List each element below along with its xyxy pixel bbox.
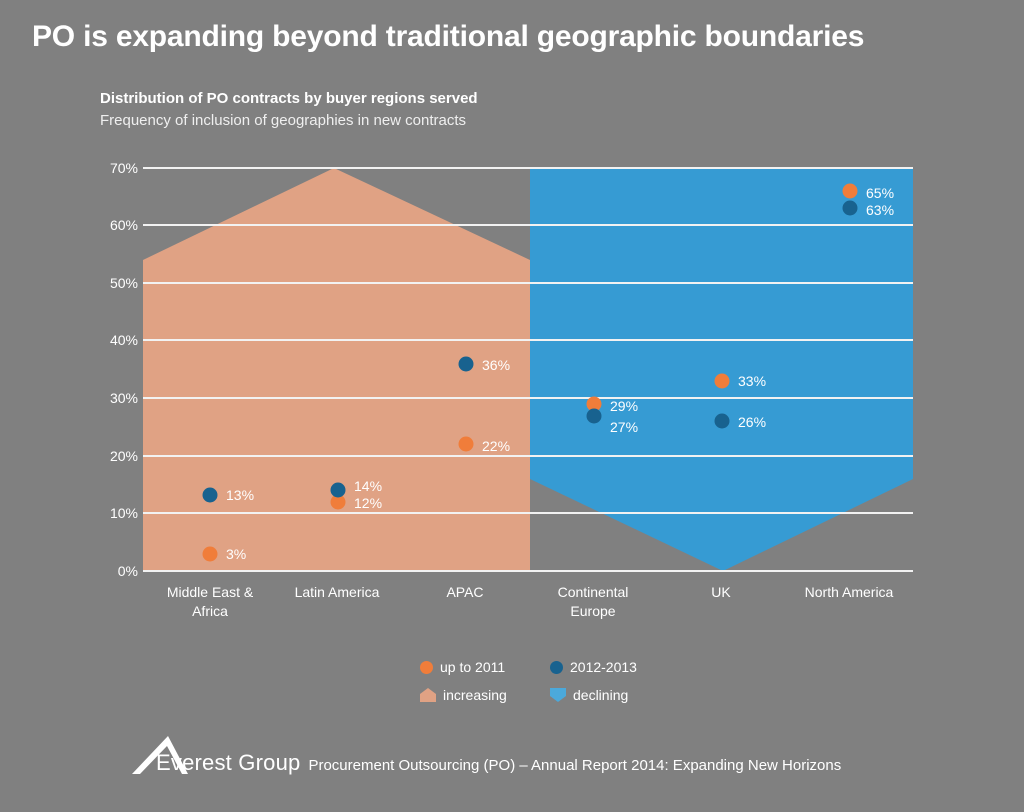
x-tick-north-america: North America	[769, 583, 929, 602]
band-declining	[530, 168, 913, 571]
data-label-2012-2013-middle-east-africa: 13%	[226, 487, 254, 503]
data-label-2012-2013-apac: 36%	[482, 357, 510, 373]
legend-label: increasing	[443, 687, 507, 703]
legend-item-declining[interactable]: declining	[550, 687, 628, 703]
data-label-up-to-2011-uk: 33%	[738, 373, 766, 389]
data-label-up-to-2011-latin-america: 12%	[354, 495, 382, 511]
y-tick-20: 20%	[92, 448, 138, 464]
data-point-up-to-2011-middle-east-africa[interactable]	[203, 547, 218, 562]
y-tick-60: 60%	[92, 217, 138, 233]
data-point-up-to-2011-north-america[interactable]	[843, 184, 858, 199]
data-point-2012-2013-apac[interactable]	[459, 357, 474, 372]
data-label-2012-2013-latin-america: 14%	[354, 478, 382, 494]
data-label-2012-2013-north-america: 63%	[866, 202, 894, 218]
legend-label: declining	[573, 687, 628, 703]
legend-circle-icon	[550, 661, 563, 674]
data-point-up-to-2011-uk[interactable]	[715, 374, 730, 389]
y-tick-0: 0%	[92, 563, 138, 579]
footer: Everest Group Procurement Outsourcing (P…	[130, 750, 841, 776]
chart-legend: up to 2011 2012-2013 increasing declinin…	[420, 655, 720, 711]
x-tick-line-2: Africa	[130, 602, 290, 621]
y-tick-30: 30%	[92, 390, 138, 406]
y-tick-40: 40%	[92, 332, 138, 348]
slide-canvas: PO is expanding beyond traditional geogr…	[0, 0, 1024, 812]
data-point-2012-2013-north-america[interactable]	[843, 201, 858, 216]
data-label-up-to-2011-middle-east-africa: 3%	[226, 546, 246, 562]
y-tick-50: 50%	[92, 275, 138, 291]
pentagon-up-icon	[420, 688, 436, 702]
data-point-2012-2013-middle-east-africa[interactable]	[203, 488, 218, 503]
data-label-up-to-2011-continental-europe: 29%	[610, 398, 638, 414]
y-tick-10: 10%	[92, 505, 138, 521]
band-increasing	[143, 168, 530, 571]
legend-item-2012-2013[interactable]: 2012-2013	[550, 659, 637, 675]
x-tick-line-2: Europe	[513, 602, 673, 621]
x-tick-line-1: North America	[769, 583, 929, 602]
data-point-2012-2013-uk[interactable]	[715, 414, 730, 429]
legend-label: 2012-2013	[570, 659, 637, 675]
legend-label: up to 2011	[440, 659, 505, 675]
data-point-2012-2013-continental-europe[interactable]	[587, 409, 602, 424]
data-label-up-to-2011-apac: 22%	[482, 438, 510, 454]
legend-item-increasing[interactable]: increasing	[420, 687, 507, 703]
y-tick-70: 70%	[92, 160, 138, 176]
legend-item-up-to-2011[interactable]: up to 2011	[420, 659, 505, 675]
data-point-2012-2013-latin-america[interactable]	[331, 483, 346, 498]
footer-text: Procurement Outsourcing (PO) – Annual Re…	[308, 757, 841, 774]
data-label-2012-2013-continental-europe: 27%	[610, 419, 638, 435]
shield-down-icon	[550, 688, 566, 702]
data-point-up-to-2011-apac[interactable]	[459, 437, 474, 452]
legend-circle-icon	[420, 661, 433, 674]
everest-group-logo-icon	[130, 734, 190, 774]
data-label-up-to-2011-north-america: 65%	[866, 185, 894, 201]
data-label-2012-2013-uk: 26%	[738, 414, 766, 430]
